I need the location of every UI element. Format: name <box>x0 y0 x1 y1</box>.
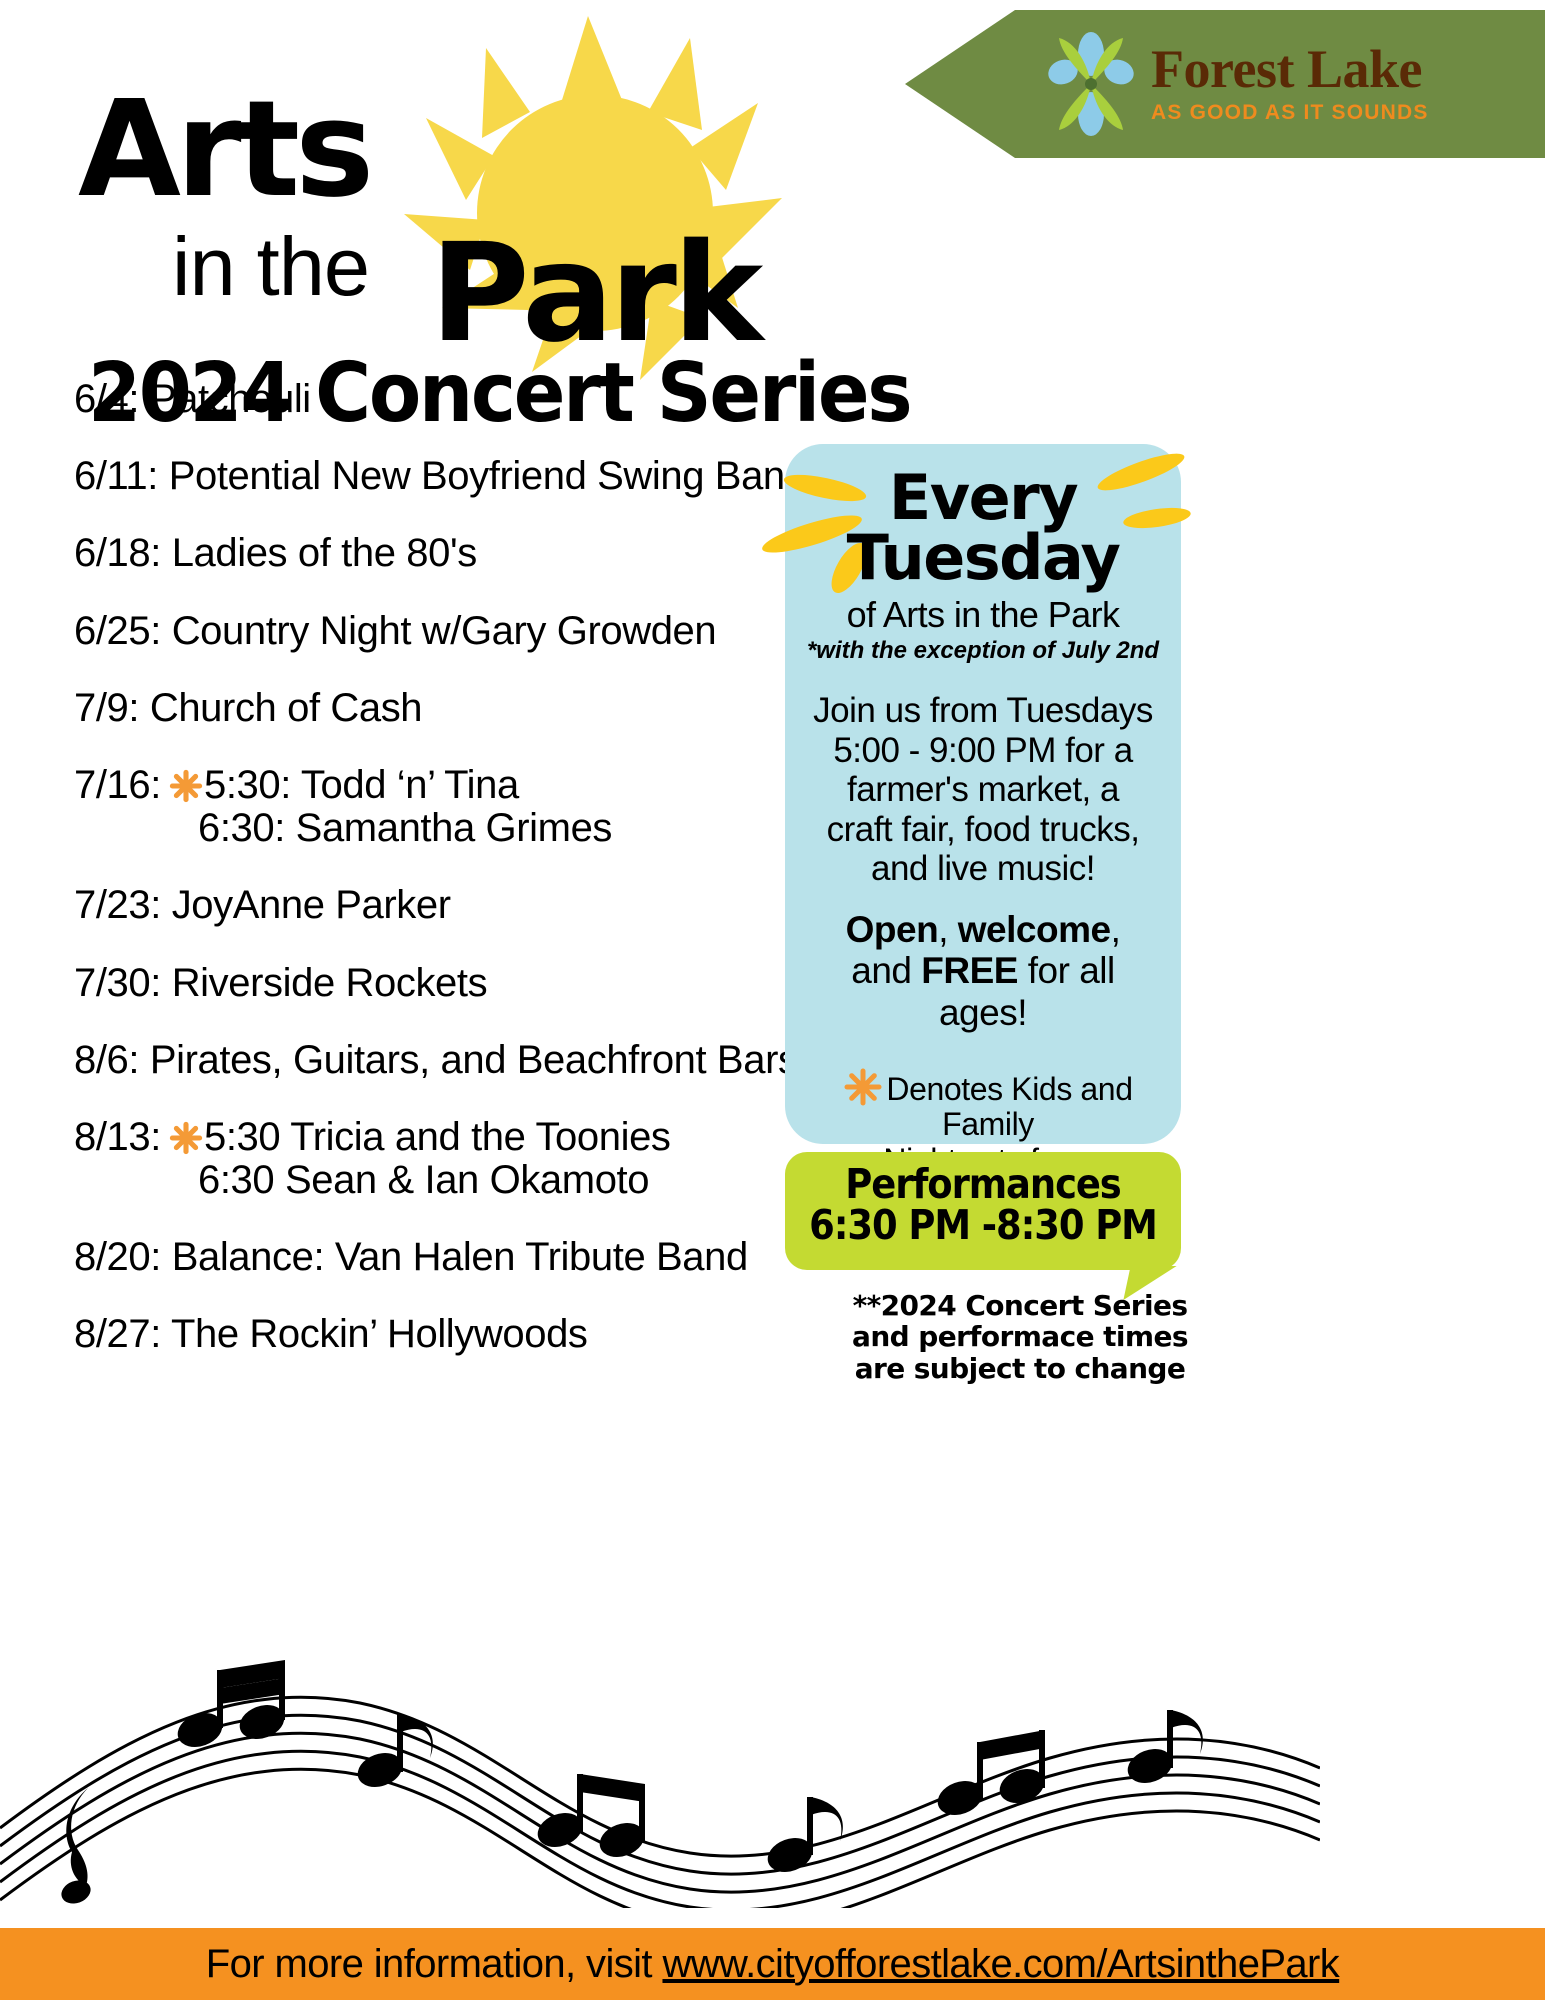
footer-prefix: For more information, visit <box>206 1942 663 1986</box>
info-open-line3: ages! <box>799 992 1167 1033</box>
info-heading-line2: Tuesday <box>799 528 1167 588</box>
concert-schedule-list: 6/4: Patchouli6/11: Potential New Boyfri… <box>74 378 874 1391</box>
footer-text: For more information, visit www.cityoffo… <box>206 1942 1339 1987</box>
asterisk-icon <box>169 769 203 803</box>
info-heading-line1: Every <box>799 468 1167 528</box>
concert-date: 8/20: <box>74 1235 161 1279</box>
title-line-arts: Arts <box>78 84 369 217</box>
concert-act: 5:30 Tricia and the Toonies <box>204 1115 671 1159</box>
logo-title: Forest Lake <box>1151 43 1429 96</box>
and-word: and <box>851 950 921 991</box>
forall-words: for all <box>1018 950 1115 991</box>
concert-list-item: 6/18: Ladies of the 80's <box>74 532 874 575</box>
concert-list-item: 7/23: JoyAnne Parker <box>74 884 874 927</box>
performances-line2: 6:30 PM -8:30 PM <box>805 1205 1161 1246</box>
concert-list-item: 6/4: Patchouli <box>74 378 874 421</box>
info-open-free-text: Open, welcome, and FREE for all ages! <box>799 909 1167 1033</box>
concert-list-item: 8/27: The Rockin’ Hollywoods <box>74 1313 874 1356</box>
concert-act: Ladies of the 80's <box>172 531 477 575</box>
denotes-label1: Denotes Kids and Family <box>886 1071 1132 1142</box>
info-body-line5: and live music! <box>799 849 1167 889</box>
disclaimer-line2: and performace times <box>840 1321 1200 1352</box>
denotes-line1: Denotes Kids and Family <box>809 1067 1167 1142</box>
title-line-inthe: in the <box>172 225 369 308</box>
info-body-text: Join us from Tuesdays 5:00 - 9:00 PM for… <box>799 691 1167 889</box>
info-body-line2: 5:00 - 9:00 PM for a <box>799 731 1167 771</box>
free-word: FREE <box>921 950 1018 991</box>
poster-canvas: Arts in the Park 2024 Concert Series For… <box>0 0 1545 2000</box>
concert-list-item: 6/25: Country Night w/Gary Growden <box>74 610 874 653</box>
concert-date: 8/27: <box>74 1312 161 1356</box>
footer-bar: For more information, visit www.cityoffo… <box>0 1928 1545 2000</box>
disclaimer-text: **2024 Concert Series and performace tim… <box>840 1290 1200 1384</box>
concert-date: 6/18: <box>74 531 161 575</box>
disclaimer-line3: are subject to change <box>840 1353 1200 1384</box>
info-body-line4: craft fair, food trucks, <box>799 810 1167 850</box>
concert-list-item: 8/20: Balance: Van Halen Tribute Band <box>74 1236 874 1279</box>
performances-line1: Performances <box>805 1164 1161 1205</box>
info-exception-note: *with the exception of July 2nd <box>799 637 1167 665</box>
open-word: Open <box>846 909 939 950</box>
concert-list-item: 7/30: Riverside Rockets <box>74 962 874 1005</box>
concert-act: JoyAnne Parker <box>172 883 451 927</box>
open-sep1: , <box>938 909 958 950</box>
info-body-line3: farmer's market, a <box>799 770 1167 810</box>
concert-list-item: 6/11: Potential New Boyfriend Swing Band <box>74 455 874 498</box>
concert-date: 6/11: <box>74 454 158 498</box>
concert-date: 8/13: <box>74 1115 161 1159</box>
concert-date: 7/16: <box>74 763 161 807</box>
concert-act: Riverside Rockets <box>172 961 488 1005</box>
info-open-line2: and FREE for all <box>799 950 1167 991</box>
info-body-line1: Join us from Tuesdays <box>799 691 1167 731</box>
concert-list-item: 7/16:5:30: Todd ‘n’ Tina6:30: Samantha G… <box>74 764 874 850</box>
concert-date: 7/23: <box>74 883 161 927</box>
logo-text-group: Forest Lake AS GOOD AS IT SOUNDS <box>1151 43 1429 125</box>
concert-date: 7/30: <box>74 961 161 1005</box>
concert-act: Pirates, Guitars, and Beachfront Bars <box>150 1038 798 1082</box>
concert-act: The Rockin’ Hollywoods <box>171 1312 588 1356</box>
concert-list-item: 7/9: Church of Cash <box>74 687 874 730</box>
disclaimer-line1: **2024 Concert Series <box>840 1290 1200 1321</box>
concert-date: 7/9: <box>74 686 139 730</box>
concert-date: 8/6: <box>74 1038 139 1082</box>
concert-act-secondary: 6:30: Samantha Grimes <box>74 807 874 850</box>
concert-act: Balance: Van Halen Tribute Band <box>172 1235 748 1279</box>
performances-bubble: Performances 6:30 PM -8:30 PM <box>785 1152 1181 1270</box>
music-staff-notes-illustration <box>0 1618 1320 1908</box>
concert-act: 5:30: Todd ‘n’ Tina <box>204 763 519 807</box>
concert-date: 6/4: <box>74 377 139 421</box>
asterisk-icon <box>843 1067 883 1107</box>
logo-tagline: AS GOOD AS IT SOUNDS <box>1151 101 1429 125</box>
every-tuesday-info-box: Every Tuesday of Arts in the Park *with … <box>785 444 1181 1144</box>
info-open-line1: Open, welcome, <box>799 909 1167 950</box>
concert-act: Church of Cash <box>150 686 422 730</box>
footer-url-link[interactable]: www.cityofforestlake.com/ArtsinthePark <box>662 1942 1339 1986</box>
concert-list-item: 8/13:5:30 Tricia and the Toonies6:30 Sea… <box>74 1116 874 1202</box>
concert-act: Patchouli <box>150 377 311 421</box>
concert-date: 6/25: <box>74 609 161 653</box>
concert-act-secondary: 6:30 Sean & Ian Okamoto <box>74 1159 874 1202</box>
concert-act: Country Night w/Gary Growden <box>172 609 717 653</box>
forest-lake-logo-banner: Forest Lake AS GOOD AS IT SOUNDS <box>905 10 1545 158</box>
welcome-word: welcome <box>958 909 1111 950</box>
asterisk-icon <box>169 1121 203 1155</box>
concert-act: Potential New Boyfriend Swing Band <box>169 454 807 498</box>
open-sep2: , <box>1111 909 1121 950</box>
title-line-park: Park <box>430 226 759 362</box>
concert-list-item: 8/6: Pirates, Guitars, and Beachfront Ba… <box>74 1039 874 1082</box>
flower-icon <box>1045 32 1137 136</box>
